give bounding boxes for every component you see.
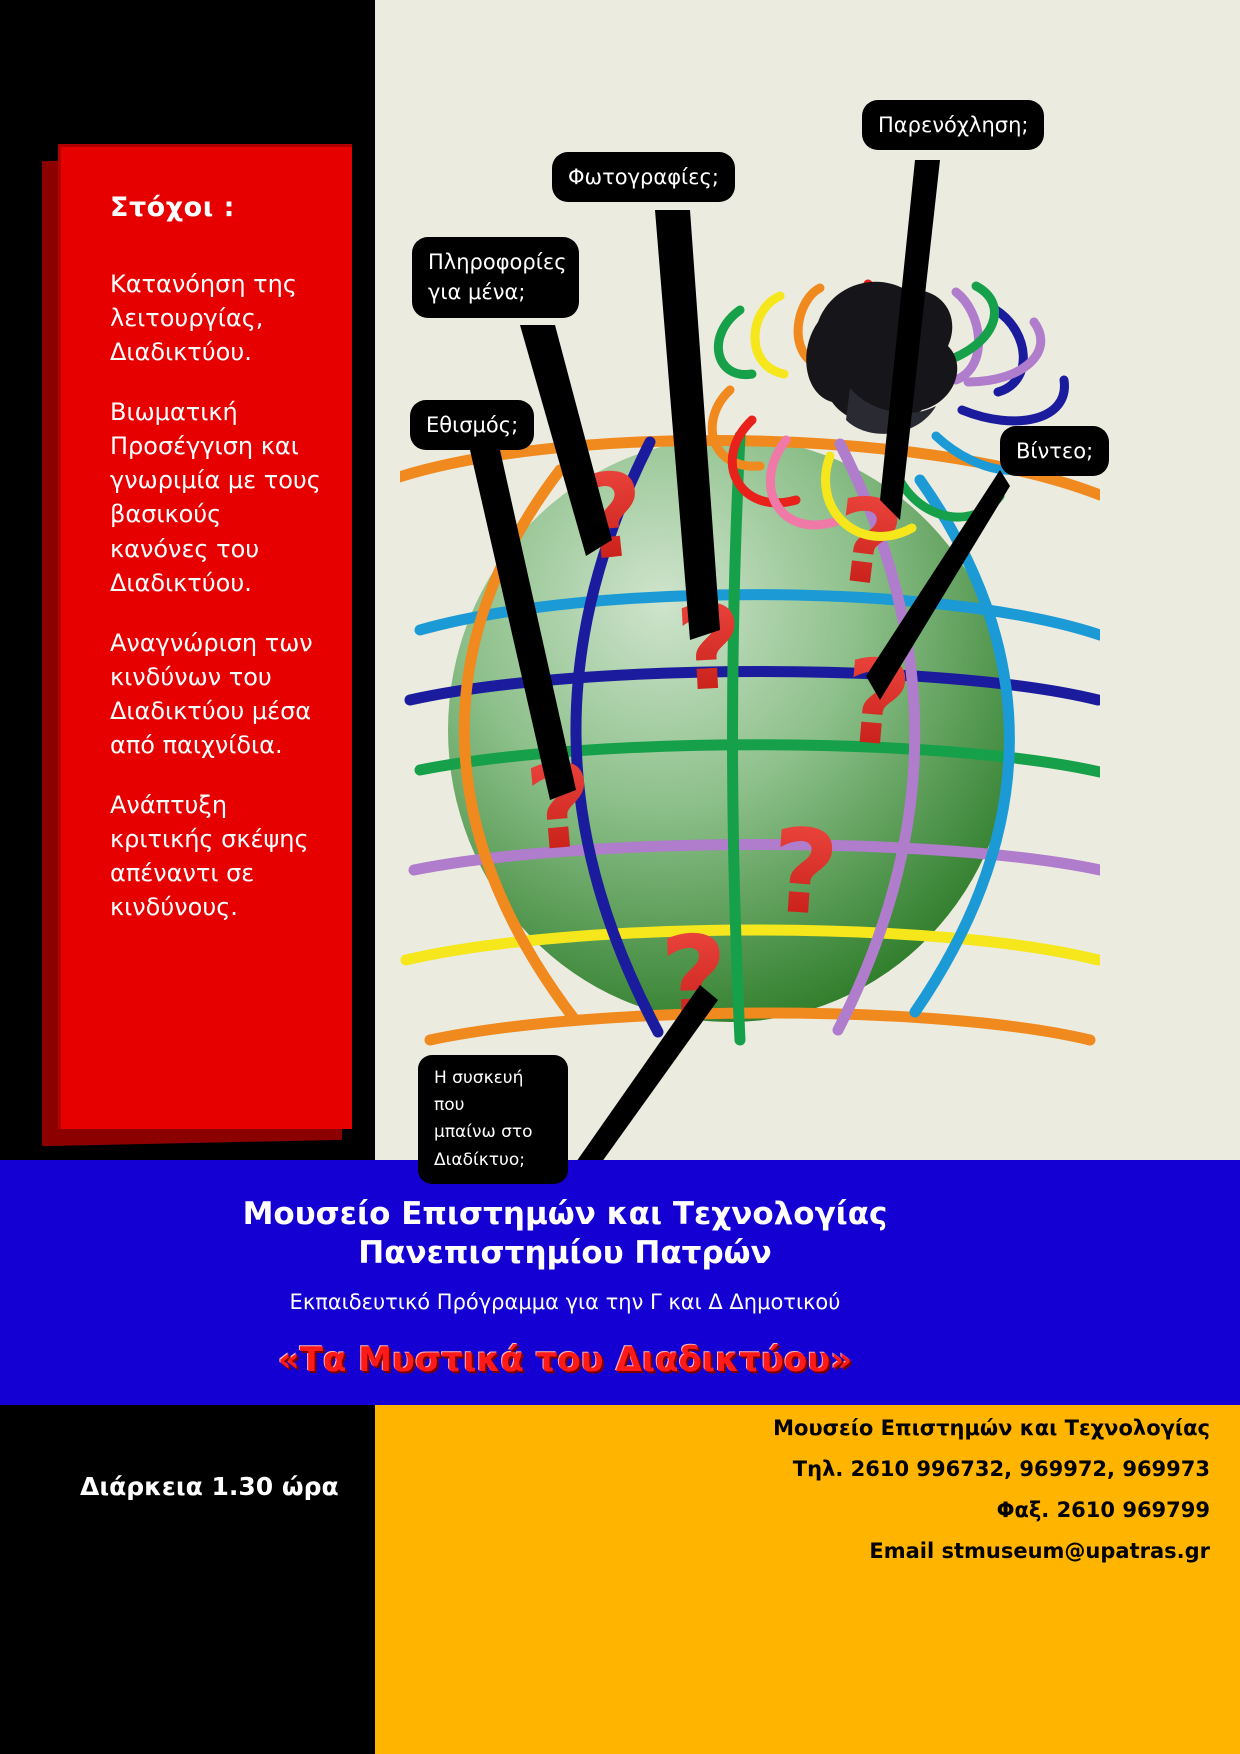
poster-root: ? ? ? ? ? ? ? xyxy=(0,0,1240,1754)
program-subtitle: Εκπαιδευτικό Πρόγραμμα για την Γ και Δ Δ… xyxy=(0,1290,1130,1314)
bubble-device[interactable]: Η συσκευή που μπαίνω στο Διαδίκτυο; xyxy=(418,1055,568,1184)
contact-email[interactable]: Email stmuseum@upatras.gr xyxy=(650,1531,1210,1572)
museum-title-line1: Μουσείο Επιστημών και Τεχνολογίας xyxy=(0,1195,1130,1234)
bubble-addiction[interactable]: Εθισμός; xyxy=(410,400,534,450)
contact-museum-name: Μουσείο Επιστημών και Τεχνολογίας xyxy=(650,1408,1210,1449)
bubble-harassment[interactable]: Παρενόχληση; xyxy=(862,100,1044,150)
contact-block: Μουσείο Επιστημών και Τεχνολογίας Τηλ. 2… xyxy=(650,1408,1210,1572)
contact-fax: Φαξ. 2610 969799 xyxy=(650,1490,1210,1531)
bubble-personal-info[interactable]: Πληροφορίες για μένα; xyxy=(412,237,579,318)
bubble-photos[interactable]: Φωτογραφίες; xyxy=(552,152,735,202)
museum-title: Μουσείο Επιστημών και Τεχνολογίας Πανεπι… xyxy=(0,1195,1130,1273)
museum-title-line2: Πανεπιστημίου Πατρών xyxy=(0,1234,1130,1273)
duration-label: Διάρκεια 1.30 ώρα xyxy=(80,1472,339,1501)
program-title: «Τα Μυστικά του Διαδικτύου» xyxy=(0,1340,1130,1380)
contact-phone: Τηλ. 2610 996732, 969972, 969973 xyxy=(650,1449,1210,1490)
bubble-video[interactable]: Βίντεο; xyxy=(1000,426,1109,476)
